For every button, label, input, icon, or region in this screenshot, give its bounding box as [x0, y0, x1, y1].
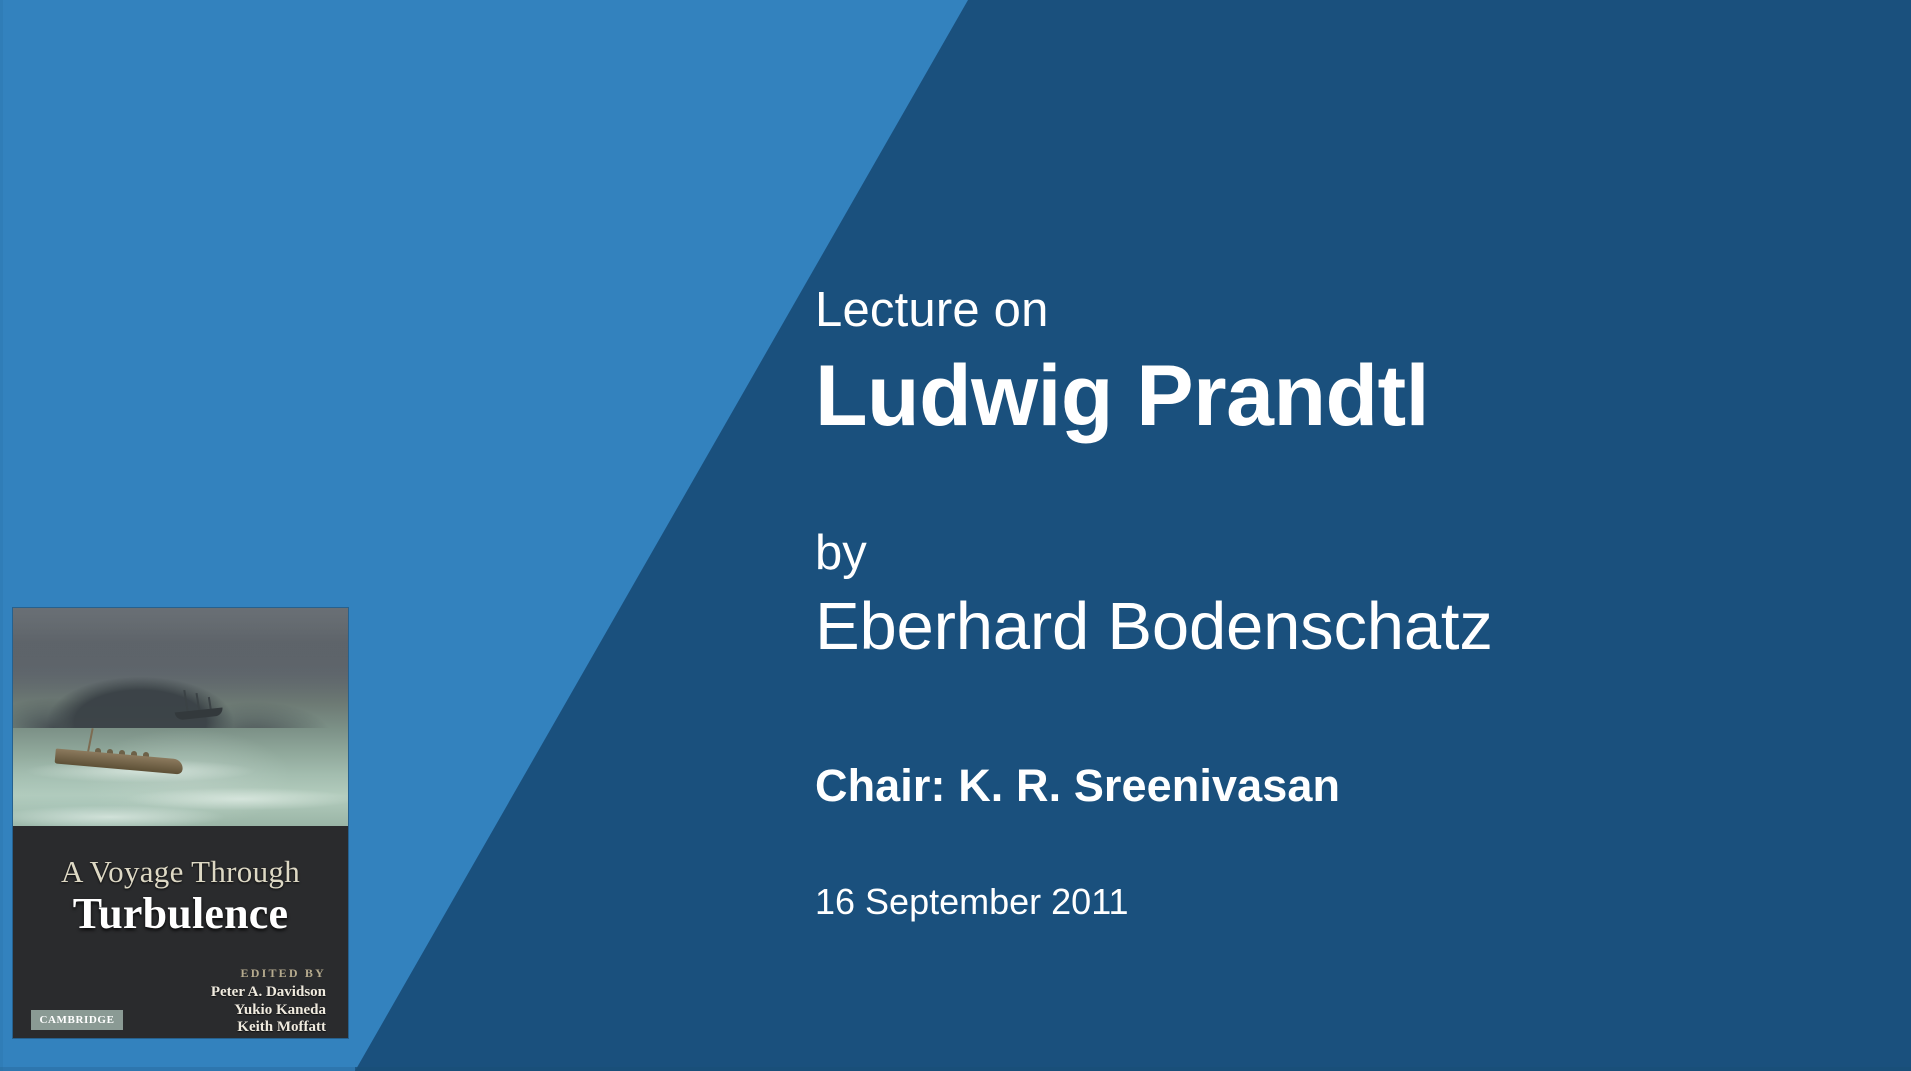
title-slide: Lecture on Ludwig Prandtl by Eberhard Bo… — [0, 0, 1911, 1071]
lecture-date: 16 September 2011 — [815, 884, 1875, 920]
editor-name: Yukio Kaneda — [168, 1002, 326, 1020]
book-cover-image: A Voyage Through Turbulence EDITED BY Pe… — [13, 608, 348, 1038]
publisher-logo: CAMBRIDGE — [31, 1010, 123, 1030]
page-title: Ludwig Prandtl — [815, 351, 1875, 441]
speaker-name: Eberhard Bodenschatz — [815, 592, 1875, 662]
book-title-line-1: A Voyage Through — [13, 854, 348, 890]
by-label: by — [815, 529, 1875, 578]
lecture-on-label: Lecture on — [815, 286, 1875, 335]
chair-name: Chair: K. R. Sreenivasan — [815, 763, 1875, 808]
publisher-name: CAMBRIDGE — [39, 1014, 114, 1026]
lifeboat-icon — [55, 740, 185, 774]
bottom-edge-line-dark — [355, 1067, 1911, 1071]
edited-by-label: EDITED BY — [241, 966, 326, 981]
left-edge-line — [0, 0, 3, 1071]
wave-crest — [13, 804, 278, 826]
editor-name: Keith Moffatt — [168, 1019, 326, 1037]
editor-name: Katepalli R. Sreenivasan — [168, 1037, 326, 1039]
editor-list: Peter A. Davidson Yukio Kaneda Keith Mof… — [168, 984, 326, 1038]
cover-artwork — [13, 608, 348, 826]
sinking-ship-icon — [171, 690, 227, 720]
book-title-line-2: Turbulence — [13, 888, 348, 939]
editor-name: Peter A. Davidson — [168, 984, 326, 1002]
slide-text-block: Lecture on Ludwig Prandtl by Eberhard Bo… — [815, 286, 1875, 920]
cover-text-panel: A Voyage Through Turbulence EDITED BY Pe… — [13, 826, 348, 1038]
